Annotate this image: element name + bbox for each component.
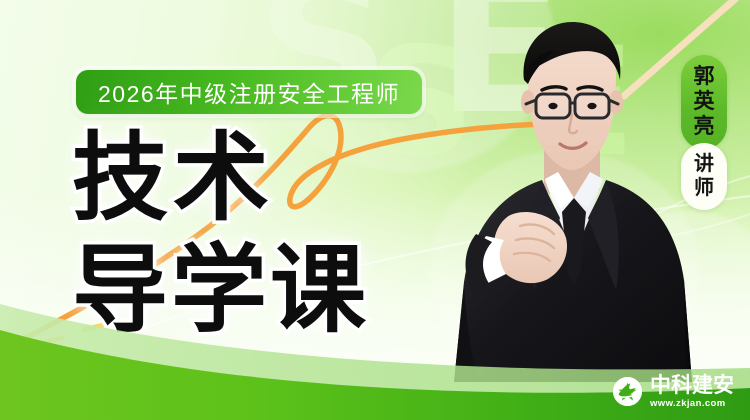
course-badge: 2026年中级注册安全工程师: [76, 70, 422, 114]
brand-name: 中科建安: [650, 375, 734, 396]
instructor-badge: 郭 英 亮 讲 师: [680, 55, 728, 210]
instructor-name-char: 亮: [694, 114, 715, 139]
instructor-name-char: 郭: [694, 64, 715, 89]
instructor-role-char: 讲: [694, 152, 714, 176]
title-line-1: 技术: [72, 130, 369, 228]
brand-logo: 中科建安 www.zkjan.com: [613, 375, 734, 409]
brand-url: www.zkjan.com: [650, 399, 734, 409]
brand-logo-text: 中科建安 www.zkjan.com: [650, 375, 734, 409]
instructor-role-pill: 讲 师: [681, 143, 727, 210]
instructor-name-pill: 郭 英 亮: [681, 55, 727, 149]
instructor-name-char: 英: [694, 89, 715, 114]
instructor-role-char: 师: [694, 176, 714, 200]
zkjan-star-icon: [613, 377, 642, 406]
course-badge-label: 2026年中级注册安全工程师: [98, 75, 400, 109]
course-poster: GSE CSE 2026年中级注册安全工程师 技术 导学课: [0, 0, 750, 420]
